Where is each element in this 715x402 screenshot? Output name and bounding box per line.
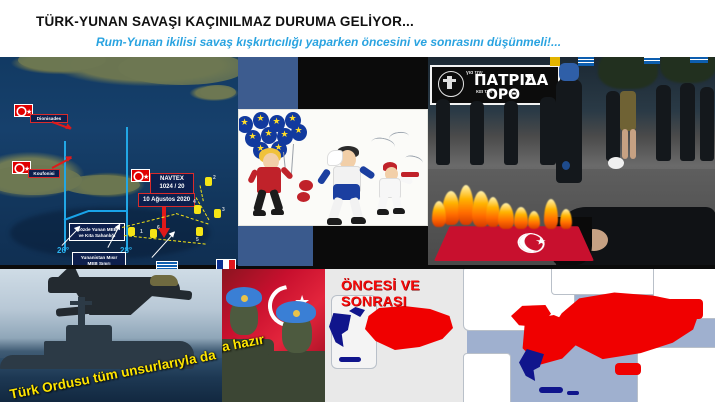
panel-political-cartoon: [238, 109, 428, 226]
navtex-zone-number-2: 2: [213, 175, 216, 181]
map-label-koufonisi: Koufonisi: [28, 169, 60, 178]
greece-flag-crowd-2: [644, 57, 660, 64]
greek-leader-shoe-left: [327, 218, 342, 225]
egypt-border-line-2: MEB Sınırı: [75, 261, 123, 265]
protester-2: [470, 101, 484, 165]
merkel-shoe-left: [253, 210, 266, 216]
banner-text-orth: ΟΡΘ: [486, 87, 520, 103]
protester-6-leg-r: [630, 129, 636, 159]
blue-mask-icon: [559, 63, 579, 81]
frigate-radar-bar: [70, 301, 92, 305]
after-crete-remnant: [539, 387, 563, 393]
panel-burning-flag: ★: [428, 185, 608, 265]
navtex-zone-number-1: 1: [140, 229, 143, 235]
after-turkey-cyprus: [615, 363, 641, 375]
frigate-bow: [0, 355, 70, 369]
evzone-shoe-left: [377, 209, 389, 215]
map-landmass-turkey-coast: [118, 57, 238, 85]
navtex-title: NAVTEX: [154, 176, 190, 184]
panel-jet-and-ship: Türk Ordusu tüm unsurlarıyla da: [0, 269, 222, 402]
greek-leader-pompom-2: [297, 192, 310, 202]
protester-8: [680, 83, 695, 161]
map-before: ÖNCESİ VE SONRASI: [325, 269, 467, 402]
protester-6-leg-l: [622, 129, 628, 159]
map-after: [467, 269, 715, 402]
before-turkey: [365, 305, 453, 355]
map-landmass-peloponnese: [18, 57, 106, 71]
motion-line-2: [388, 131, 409, 145]
after-turkey-east: [667, 299, 703, 319]
greek-leader-arm-right: [359, 165, 376, 180]
greek-leader-shoe-right: [351, 217, 366, 224]
flame-9: [560, 209, 572, 229]
navtex-zone-marker-6: [150, 229, 157, 238]
protester-3: [504, 101, 518, 165]
balloon-string-3: [291, 144, 294, 174]
protester-1: [436, 99, 450, 165]
merkel-shoe-right: [271, 209, 284, 215]
map-label-navtex-date: 10 Ağustos 2020: [138, 193, 195, 207]
turkey-flag-marker-3: [131, 169, 150, 182]
f16-wing-secondary: [148, 287, 193, 301]
eez-line-segment-2: [88, 210, 128, 212]
map-landmass-cyprus: [200, 85, 236, 99]
page-title: TÜRK-YUNAN SAVAŞI KAÇINILMAZ DURUMA GELİ…: [36, 14, 414, 29]
protester-5: [606, 91, 620, 161]
panel-soldiers: ★ ima hazır: [222, 269, 325, 402]
turkish-flag-burning: ★: [434, 226, 594, 261]
meridian-label-26: 26°: [57, 246, 69, 255]
after-italy-region: [463, 353, 511, 402]
f16-tailfin: [52, 269, 82, 283]
map-landmass-crete-east: [62, 175, 140, 195]
navtex-number: 1024 / 20: [154, 184, 190, 192]
collage-page: TÜRK-YUNAN SAVAŞI KAÇINILMAZ DURUMA GELİ…: [0, 0, 715, 402]
banner-cross-bar: [443, 79, 456, 82]
map-label-dionisades: Dionisades: [30, 114, 68, 123]
protester-9: [700, 87, 714, 161]
f16-stabilizer: [56, 305, 97, 316]
image-collage: 26° 28° Dionisades Koufonisi Sözde Yunan…: [0, 57, 715, 402]
evzone-weapon: [401, 172, 419, 177]
navtex-zone-number-6: 6: [157, 225, 160, 231]
star-icon: ★: [535, 237, 548, 246]
banner-text-tail: Σ: [524, 71, 534, 89]
navtex-zone-dash-4: [200, 185, 204, 201]
after-levant: [637, 347, 715, 402]
navtex-zone-marker-3: [214, 209, 221, 218]
panel-before-after-maps: ÖNCESİ VE SONRASI: [325, 269, 715, 402]
protester-7: [656, 85, 671, 161]
merkel-leg-left: [253, 189, 267, 212]
held-object: [562, 161, 570, 170]
greek-leader-pompom-1: [299, 180, 313, 191]
eu-balloon-8: [291, 124, 307, 141]
navtex-zone-marker-2: [205, 177, 212, 186]
soldier-1-beret-icon: [226, 287, 262, 307]
yellow-flag-crowd: [550, 57, 560, 66]
panel-satellite-map: 26° 28° Dionisades Koufonisi Sözde Yunan…: [0, 57, 238, 265]
map-label-egypt-border: Yunanistan Mısır MEB Sınırı: [72, 252, 126, 265]
map-label-navtex: NAVTEX 1024 / 20: [150, 173, 194, 194]
dog: [608, 157, 624, 169]
navtex-down-arrow: [162, 207, 166, 229]
greece-flag-crowd-3: [690, 57, 708, 63]
navtex-zone-marker-5: [196, 227, 203, 236]
soldier-2-body: [268, 351, 325, 402]
flame-6: [514, 207, 528, 229]
arrow-to-koufonisi: [52, 157, 72, 169]
after-island-remnant: [567, 391, 579, 395]
evzone-shoe-right: [393, 208, 405, 214]
motion-line-3: [404, 154, 424, 168]
navtex-zone-number-4: 4: [193, 199, 196, 205]
f16-canopy: [150, 275, 178, 286]
banner-cross-icon: [447, 76, 452, 89]
protester-4: [540, 97, 556, 165]
flame-8: [544, 199, 558, 229]
cartoon-bg-left: [238, 57, 298, 109]
navtex-zone-marker-4: [194, 205, 201, 214]
navtex-zone-number-3: 3: [222, 207, 225, 213]
greek-leader-arm-left: [317, 168, 332, 185]
cartoon-bg-bottom: [238, 226, 313, 266]
frigate-superstructure: [66, 325, 112, 345]
navtex-zone-number-5: 5: [196, 237, 199, 243]
flame-5: [498, 203, 514, 229]
page-subtitle: Rum-Yunan ikilisi savaş kışkırtıcılığı y…: [96, 35, 561, 49]
soldier-2-beret-icon: [276, 301, 316, 323]
before-crete: [339, 357, 361, 362]
greek-leader-headscarf: [327, 150, 343, 166]
maps-caption: ÖNCESİ VE SONRASI: [341, 277, 467, 309]
greece-flag-crowd-1: [578, 57, 594, 66]
navtex-zone-marker-1: [128, 227, 135, 236]
flame-7: [528, 211, 540, 229]
protester-6-shorts: [620, 91, 636, 131]
